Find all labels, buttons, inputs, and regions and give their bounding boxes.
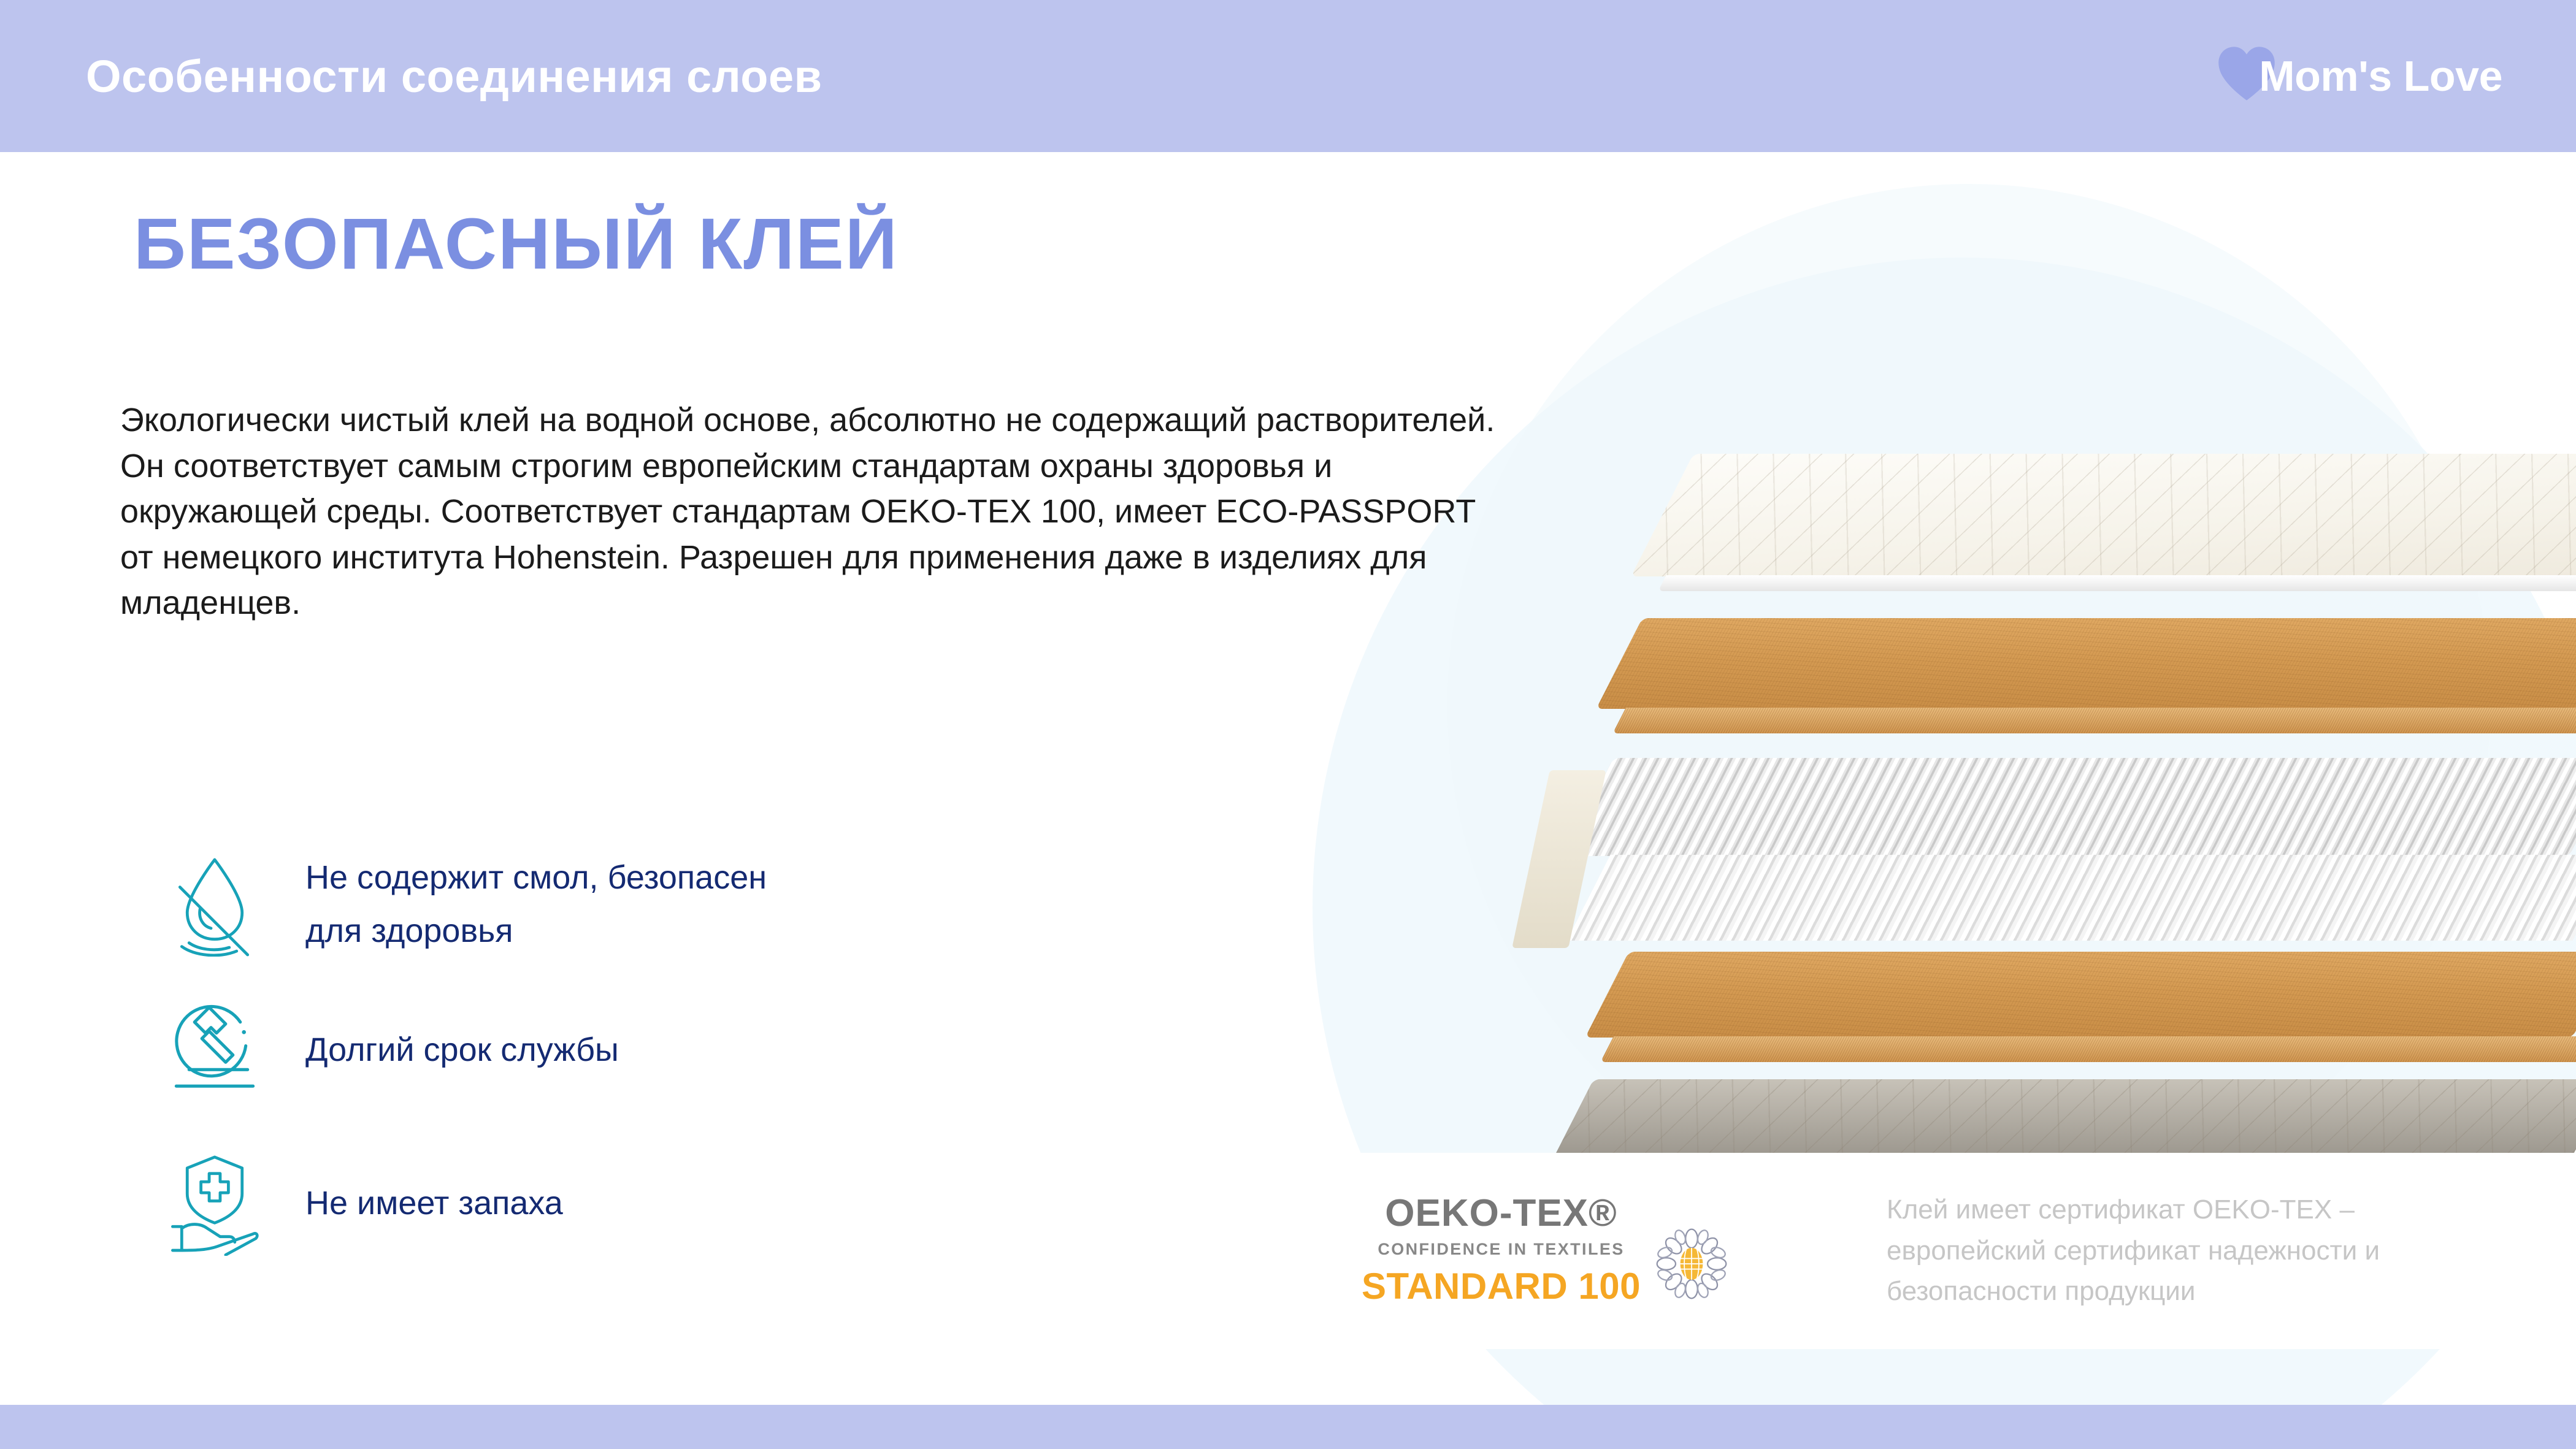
brand-name: Mom's Love	[2259, 52, 2502, 101]
feature-list: Не содержит смол, безопасен для здоровья…	[153, 846, 1135, 1262]
oeko-tex-standard: STANDARD 100	[1362, 1265, 1641, 1307]
feature-label: Не содержит смол, безопасен для здоровья	[276, 851, 767, 958]
oeko-tex-logo: OEKO-TEX® CONFIDENCE IN TEXTILES STANDAR…	[1362, 1195, 1865, 1307]
slide-root: Особенности соединения слоев Mom's Love …	[0, 0, 2576, 1449]
header-title: Особенности соединения слоев	[86, 50, 822, 102]
shield-cross-in-hand-icon	[153, 1152, 276, 1256]
description-paragraph: Экологически чистый клей на водной основ…	[120, 397, 1500, 626]
feature-label: Долгий срок службы	[276, 1023, 619, 1077]
oeko-tex-wordmark: OEKO-TEX®	[1385, 1195, 1617, 1233]
feature-item-no-resins: Не содержит смол, безопасен для здоровья	[153, 846, 1135, 963]
oeko-tex-tagline: CONFIDENCE IN TEXTILES	[1378, 1240, 1624, 1259]
header-bar: Особенности соединения слоев Mom's Love	[0, 0, 2576, 152]
feature-label: Не имеет запаха	[276, 1177, 563, 1230]
oeko-tex-flower-mark-icon	[1652, 1224, 1731, 1307]
certificate-card: OEKO-TEX® CONFIDENCE IN TEXTILES STANDAR…	[1294, 1153, 2576, 1349]
water-drop-crossed-icon	[153, 852, 276, 957]
mattress-exploded-layers	[1515, 454, 2576, 1153]
oeko-tex-logo-text: OEKO-TEX® CONFIDENCE IN TEXTILES STANDAR…	[1362, 1195, 1641, 1307]
page-title: БЕЗОПАСНЫЙ КЛЕЙ	[134, 202, 899, 286]
brand-logo[interactable]: Mom's Love	[2209, 21, 2502, 131]
certificate-caption: Клей имеет сертификат OEKO-TEX – европей…	[1865, 1190, 2380, 1313]
hammer-durability-icon	[153, 998, 276, 1103]
feature-item-long-service-life: Долгий срок службы	[153, 992, 1135, 1109]
feature-item-odourless: Не имеет запаха	[153, 1145, 1135, 1262]
footer-bar	[0, 1405, 2576, 1449]
